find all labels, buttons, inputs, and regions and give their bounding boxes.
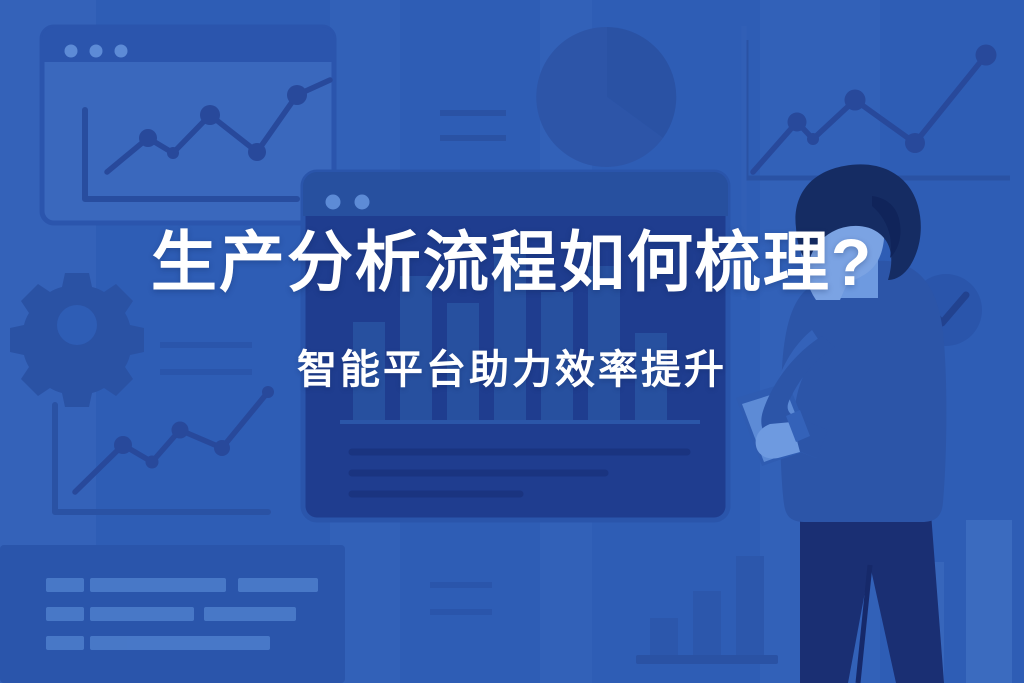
background-illustration xyxy=(0,0,1024,683)
top-left-window xyxy=(42,27,334,223)
window-dots xyxy=(65,45,128,58)
person-sweater xyxy=(780,261,946,522)
gear-icon xyxy=(10,273,144,407)
pie-chart xyxy=(536,27,676,167)
center-window xyxy=(303,172,728,520)
hero-banner: 生产分析流程如何梳理? 智能平台助力效率提升 xyxy=(0,0,1024,683)
